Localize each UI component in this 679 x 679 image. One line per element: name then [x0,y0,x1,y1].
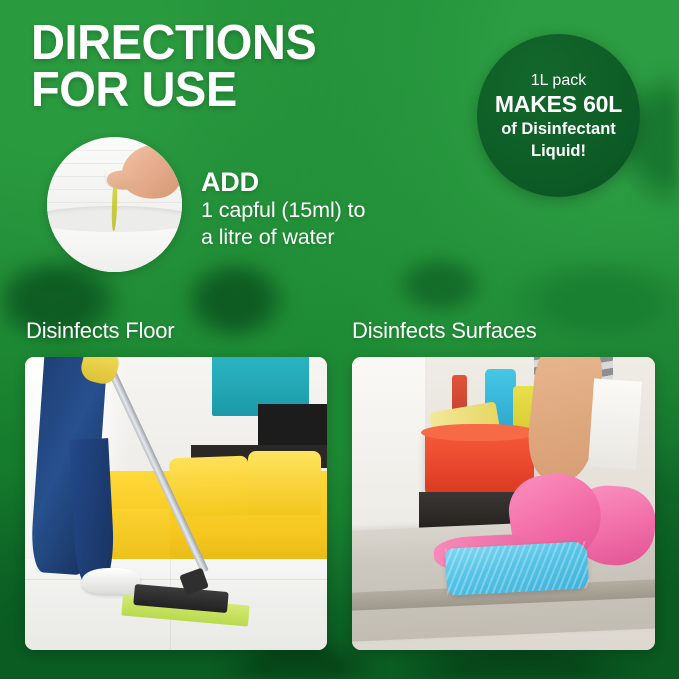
left-photo-scene [25,357,327,650]
sofa-cushion-left [169,455,250,516]
floor-mopping-photo [25,357,327,650]
white-shoe [82,568,139,594]
person-leg-front [70,438,117,586]
surface-wiping-photo [352,357,655,650]
white-apron [588,379,642,470]
blue-cleaning-cloth [445,541,590,595]
badge-line-makes: MAKES 60L [495,91,622,118]
badge-line-liquid: Liquid! [531,140,586,162]
makes-60l-badge: 1L pack MAKES 60L of Disinfectant Liquid… [477,34,640,197]
caption-disinfects-floor: Disinfects Floor [26,319,174,343]
capful-pouring-photo [47,137,182,272]
add-instruction-line1: 1 capful (15ml) to [201,197,365,224]
badge-line-pack-size: 1L pack [531,70,586,91]
page-title-line1: DIRECTIONS [31,20,434,67]
bright-wall [352,357,425,539]
add-instruction-title: ADD [201,168,365,197]
add-instruction: ADD 1 capful (15ml) to a litre of water [201,168,365,251]
caption-disinfects-surfaces: Disinfects Surfaces [352,319,537,343]
sofa-cushion-right [248,451,320,515]
page-title: DIRECTIONS FOR USE [31,20,451,114]
right-photo-scene [352,357,655,650]
directions-for-use-infographic: DIRECTIONS FOR USE 1L pack MAKES 60L of … [0,0,679,679]
badge-line-of-disinfectant: of Disinfectant [501,118,616,140]
page-title-line2: FOR USE [31,67,434,114]
add-instruction-line2: a litre of water [201,224,365,251]
